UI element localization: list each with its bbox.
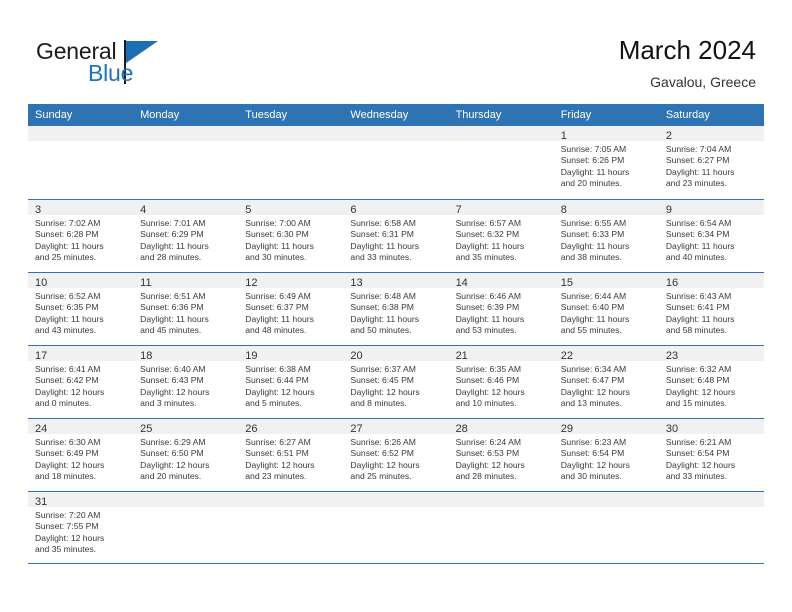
- sun-info-line: Daylight: 12 hours: [456, 387, 547, 398]
- calendar-week-row: 1Sunrise: 7:05 AMSunset: 6:26 PMDaylight…: [28, 126, 764, 199]
- sun-info-line: Sunset: 6:27 PM: [666, 155, 757, 166]
- day-number-strip: [28, 126, 133, 141]
- sun-info-line: Sunset: 6:53 PM: [456, 448, 547, 459]
- day-number-strip: [343, 126, 448, 141]
- day-number-strip: 25: [133, 419, 238, 434]
- calendar-day-cell-empty: [449, 126, 554, 199]
- sun-info-line: Sunset: 6:50 PM: [140, 448, 231, 459]
- day-number-strip: 17: [28, 346, 133, 361]
- sun-info-line: and 55 minutes.: [561, 325, 652, 336]
- day-sun-info: Sunrise: 6:23 AMSunset: 6:54 PMDaylight:…: [554, 434, 659, 483]
- sun-info-line: Daylight: 12 hours: [140, 387, 231, 398]
- sun-info-line: and 10 minutes.: [456, 398, 547, 409]
- day-sun-info: Sunrise: 6:54 AMSunset: 6:34 PMDaylight:…: [659, 215, 764, 264]
- sun-info-line: Sunset: 6:48 PM: [666, 375, 757, 386]
- day-number: 24: [35, 423, 47, 435]
- sun-info-line: Sunset: 6:41 PM: [666, 302, 757, 313]
- page-subtitle: Gavalou, Greece: [619, 72, 756, 92]
- day-number-strip: [343, 492, 448, 507]
- sun-info-line: Daylight: 12 hours: [140, 460, 231, 471]
- weekday-header-friday: Friday: [554, 104, 659, 126]
- weekday-header-sunday: Sunday: [28, 104, 133, 126]
- calendar-day-cell-13[interactable]: 13Sunrise: 6:48 AMSunset: 6:38 PMDayligh…: [343, 273, 448, 345]
- sun-info-line: and 50 minutes.: [350, 325, 441, 336]
- day-number-strip: 13: [343, 273, 448, 288]
- calendar-day-cell-empty: [449, 492, 554, 563]
- sun-info-line: Daylight: 11 hours: [35, 314, 126, 325]
- sun-info-line: Sunrise: 6:55 AM: [561, 218, 652, 229]
- day-number: 5: [245, 204, 251, 216]
- day-number-strip: 7: [449, 200, 554, 215]
- day-number-strip: 27: [343, 419, 448, 434]
- calendar-grid: SundayMondayTuesdayWednesdayThursdayFrid…: [28, 104, 764, 564]
- day-number: 17: [35, 350, 47, 362]
- day-number-strip: [554, 492, 659, 507]
- day-number: 26: [245, 423, 257, 435]
- sun-info-line: Sunrise: 7:05 AM: [561, 144, 652, 155]
- sun-info-line: Sunrise: 6:34 AM: [561, 364, 652, 375]
- sun-info-line: Sunrise: 6:38 AM: [245, 364, 336, 375]
- day-sun-info: [554, 507, 659, 510]
- sun-info-line: Sunrise: 6:27 AM: [245, 437, 336, 448]
- sun-info-line: Daylight: 12 hours: [666, 460, 757, 471]
- day-number: 16: [666, 277, 678, 289]
- sun-info-line: Sunset: 6:31 PM: [350, 229, 441, 240]
- sun-info-line: Sunset: 6:36 PM: [140, 302, 231, 313]
- sun-info-line: and 30 minutes.: [561, 471, 652, 482]
- day-sun-info: Sunrise: 6:35 AMSunset: 6:46 PMDaylight:…: [449, 361, 554, 410]
- weekday-header-tuesday: Tuesday: [238, 104, 343, 126]
- sun-info-line: Daylight: 11 hours: [561, 314, 652, 325]
- day-sun-info: Sunrise: 6:32 AMSunset: 6:48 PMDaylight:…: [659, 361, 764, 410]
- sun-info-line: and 20 minutes.: [140, 471, 231, 482]
- sun-info-line: Daylight: 12 hours: [350, 387, 441, 398]
- day-sun-info: [238, 507, 343, 510]
- day-sun-info: Sunrise: 6:24 AMSunset: 6:53 PMDaylight:…: [449, 434, 554, 483]
- day-sun-info: Sunrise: 6:38 AMSunset: 6:44 PMDaylight:…: [238, 361, 343, 410]
- day-number: 10: [35, 277, 47, 289]
- sun-info-line: and 28 minutes.: [456, 471, 547, 482]
- day-number: 21: [456, 350, 468, 362]
- day-number: 19: [245, 350, 257, 362]
- day-number-strip: 29: [554, 419, 659, 434]
- sun-info-line: Daylight: 12 hours: [666, 387, 757, 398]
- sun-info-line: Sunset: 6:37 PM: [245, 302, 336, 313]
- day-number: 9: [666, 204, 672, 216]
- sun-info-line: Sunset: 6:35 PM: [35, 302, 126, 313]
- day-sun-info: [449, 507, 554, 510]
- calendar-day-cell-19[interactable]: 19Sunrise: 6:38 AMSunset: 6:44 PMDayligh…: [238, 346, 343, 418]
- day-sun-info: Sunrise: 6:27 AMSunset: 6:51 PMDaylight:…: [238, 434, 343, 483]
- sun-info-line: Sunrise: 6:58 AM: [350, 218, 441, 229]
- calendar-day-cell-7[interactable]: 7Sunrise: 6:57 AMSunset: 6:32 PMDaylight…: [449, 200, 554, 272]
- sun-info-line: Sunrise: 6:49 AM: [245, 291, 336, 302]
- day-number: 15: [561, 277, 573, 289]
- day-sun-info: Sunrise: 6:30 AMSunset: 6:49 PMDaylight:…: [28, 434, 133, 483]
- day-sun-info: Sunrise: 6:43 AMSunset: 6:41 PMDaylight:…: [659, 288, 764, 337]
- sun-info-line: Daylight: 12 hours: [561, 460, 652, 471]
- sun-info-line: Daylight: 12 hours: [35, 460, 126, 471]
- sun-info-line: Sunset: 6:28 PM: [35, 229, 126, 240]
- day-number: 8: [561, 204, 567, 216]
- sun-info-line: Daylight: 12 hours: [561, 387, 652, 398]
- calendar-week-row: 31Sunrise: 7:20 AMSunset: 7:55 PMDayligh…: [28, 491, 764, 564]
- sun-info-line: Daylight: 11 hours: [140, 314, 231, 325]
- calendar-day-cell-10[interactable]: 10Sunrise: 6:52 AMSunset: 6:35 PMDayligh…: [28, 273, 133, 345]
- calendar-page: General Blue March 2024 Gavalou, Greece …: [0, 0, 792, 612]
- sun-info-line: Daylight: 12 hours: [35, 533, 126, 544]
- day-number: 4: [140, 204, 146, 216]
- day-number-strip: 30: [659, 419, 764, 434]
- sun-info-line: Sunrise: 6:30 AM: [35, 437, 126, 448]
- calendar-day-cell-16[interactable]: 16Sunrise: 6:43 AMSunset: 6:41 PMDayligh…: [659, 273, 764, 345]
- sun-info-line: Sunset: 6:54 PM: [561, 448, 652, 459]
- sun-info-line: Sunset: 6:42 PM: [35, 375, 126, 386]
- sun-info-line: and 25 minutes.: [350, 471, 441, 482]
- sun-info-line: Daylight: 11 hours: [666, 167, 757, 178]
- day-number-strip: 28: [449, 419, 554, 434]
- calendar-day-cell-5[interactable]: 5Sunrise: 7:00 AMSunset: 6:30 PMDaylight…: [238, 200, 343, 272]
- day-sun-info: Sunrise: 6:51 AMSunset: 6:36 PMDaylight:…: [133, 288, 238, 337]
- calendar-day-cell-empty: [133, 492, 238, 563]
- sun-info-line: Daylight: 11 hours: [666, 314, 757, 325]
- sun-info-line: Daylight: 11 hours: [561, 241, 652, 252]
- day-number-strip: 11: [133, 273, 238, 288]
- calendar-day-cell-empty: [659, 492, 764, 563]
- calendar-day-cell-26[interactable]: 26Sunrise: 6:27 AMSunset: 6:51 PMDayligh…: [238, 419, 343, 491]
- sun-info-line: and 5 minutes.: [245, 398, 336, 409]
- calendar-day-cell-empty: [343, 492, 448, 563]
- day-number-strip: 22: [554, 346, 659, 361]
- weekday-header-row: SundayMondayTuesdayWednesdayThursdayFrid…: [28, 104, 764, 126]
- day-sun-info: Sunrise: 6:52 AMSunset: 6:35 PMDaylight:…: [28, 288, 133, 337]
- calendar-day-cell-12[interactable]: 12Sunrise: 6:49 AMSunset: 6:37 PMDayligh…: [238, 273, 343, 345]
- day-number-strip: [449, 492, 554, 507]
- day-number-strip: 26: [238, 419, 343, 434]
- sun-info-line: Sunset: 6:26 PM: [561, 155, 652, 166]
- calendar-day-cell-21[interactable]: 21Sunrise: 6:35 AMSunset: 6:46 PMDayligh…: [449, 346, 554, 418]
- calendar-day-cell-empty: [554, 492, 659, 563]
- calendar-day-cell-22[interactable]: 22Sunrise: 6:34 AMSunset: 6:47 PMDayligh…: [554, 346, 659, 418]
- day-sun-info: Sunrise: 7:04 AMSunset: 6:27 PMDaylight:…: [659, 141, 764, 190]
- sun-info-line: and 35 minutes.: [35, 544, 126, 555]
- calendar-day-cell-8[interactable]: 8Sunrise: 6:55 AMSunset: 6:33 PMDaylight…: [554, 200, 659, 272]
- sun-info-line: Daylight: 12 hours: [35, 387, 126, 398]
- page-header: General Blue March 2024 Gavalou, Greece: [0, 0, 792, 104]
- sun-info-line: Sunrise: 6:29 AM: [140, 437, 231, 448]
- sun-info-line: Daylight: 11 hours: [350, 241, 441, 252]
- sun-info-line: Sunset: 6:30 PM: [245, 229, 336, 240]
- sun-info-line: Sunrise: 6:54 AM: [666, 218, 757, 229]
- day-number: 20: [350, 350, 362, 362]
- title-block: March 2024 Gavalou, Greece: [619, 34, 756, 92]
- sun-info-line: Sunrise: 7:00 AM: [245, 218, 336, 229]
- sun-info-line: Sunrise: 6:40 AM: [140, 364, 231, 375]
- sun-info-line: Daylight: 12 hours: [245, 387, 336, 398]
- sun-info-line: Sunrise: 6:23 AM: [561, 437, 652, 448]
- calendar-day-cell-1[interactable]: 1Sunrise: 7:05 AMSunset: 6:26 PMDaylight…: [554, 126, 659, 199]
- day-number-strip: 14: [449, 273, 554, 288]
- day-sun-info: Sunrise: 6:48 AMSunset: 6:38 PMDaylight:…: [343, 288, 448, 337]
- sun-info-line: Daylight: 11 hours: [245, 314, 336, 325]
- sun-info-line: Sunrise: 6:52 AM: [35, 291, 126, 302]
- sun-info-line: Sunrise: 6:51 AM: [140, 291, 231, 302]
- sun-info-line: Daylight: 11 hours: [561, 167, 652, 178]
- day-number-strip: 1: [554, 126, 659, 141]
- day-number-strip: 10: [28, 273, 133, 288]
- day-number-strip: [133, 492, 238, 507]
- calendar-day-cell-3[interactable]: 3Sunrise: 7:02 AMSunset: 6:28 PMDaylight…: [28, 200, 133, 272]
- sun-info-line: Sunset: 6:44 PM: [245, 375, 336, 386]
- calendar-day-cell-9[interactable]: 9Sunrise: 6:54 AMSunset: 6:34 PMDaylight…: [659, 200, 764, 272]
- day-number-strip: 31: [28, 492, 133, 507]
- sun-info-line: and 33 minutes.: [350, 252, 441, 263]
- day-number: 28: [456, 423, 468, 435]
- sun-info-line: Sunrise: 6:37 AM: [350, 364, 441, 375]
- calendar-day-cell-30[interactable]: 30Sunrise: 6:21 AMSunset: 6:54 PMDayligh…: [659, 419, 764, 491]
- sun-info-line: Daylight: 11 hours: [350, 314, 441, 325]
- calendar-week-row: 10Sunrise: 6:52 AMSunset: 6:35 PMDayligh…: [28, 272, 764, 345]
- sun-info-line: and 0 minutes.: [35, 398, 126, 409]
- sun-info-line: Sunset: 6:38 PM: [350, 302, 441, 313]
- day-sun-info: Sunrise: 7:02 AMSunset: 6:28 PMDaylight:…: [28, 215, 133, 264]
- day-sun-info: [343, 507, 448, 510]
- day-number: 6: [350, 204, 356, 216]
- day-number: 12: [245, 277, 257, 289]
- day-number: 18: [140, 350, 152, 362]
- day-sun-info: Sunrise: 7:00 AMSunset: 6:30 PMDaylight:…: [238, 215, 343, 264]
- sun-info-line: Sunrise: 6:24 AM: [456, 437, 547, 448]
- calendar-day-cell-empty: [238, 492, 343, 563]
- sun-info-line: Sunset: 6:47 PM: [561, 375, 652, 386]
- sun-info-line: Sunset: 6:46 PM: [456, 375, 547, 386]
- sun-info-line: Sunrise: 6:46 AM: [456, 291, 547, 302]
- day-number: 1: [561, 130, 567, 142]
- calendar-day-cell-27[interactable]: 27Sunrise: 6:26 AMSunset: 6:52 PMDayligh…: [343, 419, 448, 491]
- day-number: 23: [666, 350, 678, 362]
- day-sun-info: Sunrise: 6:44 AMSunset: 6:40 PMDaylight:…: [554, 288, 659, 337]
- day-number: 11: [140, 277, 151, 289]
- sun-info-line: and 33 minutes.: [666, 471, 757, 482]
- day-sun-info: [343, 141, 448, 144]
- sun-info-line: Sunset: 6:43 PM: [140, 375, 231, 386]
- day-number: 14: [456, 277, 468, 289]
- day-sun-info: Sunrise: 7:05 AMSunset: 6:26 PMDaylight:…: [554, 141, 659, 190]
- day-sun-info: Sunrise: 6:49 AMSunset: 6:37 PMDaylight:…: [238, 288, 343, 337]
- day-number: 31: [35, 496, 47, 508]
- day-sun-info: Sunrise: 6:34 AMSunset: 6:47 PMDaylight:…: [554, 361, 659, 410]
- sun-info-line: Sunset: 6:34 PM: [666, 229, 757, 240]
- sun-info-line: Daylight: 11 hours: [456, 241, 547, 252]
- sun-info-line: Sunrise: 7:01 AM: [140, 218, 231, 229]
- day-number-strip: 4: [133, 200, 238, 215]
- day-number-strip: 20: [343, 346, 448, 361]
- day-number-strip: [238, 126, 343, 141]
- calendar-day-cell-11[interactable]: 11Sunrise: 6:51 AMSunset: 6:36 PMDayligh…: [133, 273, 238, 345]
- day-number-strip: 24: [28, 419, 133, 434]
- day-sun-info: Sunrise: 7:20 AMSunset: 7:55 PMDaylight:…: [28, 507, 133, 556]
- sun-info-line: Sunrise: 6:21 AM: [666, 437, 757, 448]
- weekday-header-saturday: Saturday: [659, 104, 764, 126]
- sun-info-line: Sunset: 7:55 PM: [35, 521, 126, 532]
- calendar-day-cell-31[interactable]: 31Sunrise: 7:20 AMSunset: 7:55 PMDayligh…: [28, 492, 133, 563]
- day-number-strip: [238, 492, 343, 507]
- sun-info-line: Sunset: 6:32 PM: [456, 229, 547, 240]
- day-sun-info: Sunrise: 6:55 AMSunset: 6:33 PMDaylight:…: [554, 215, 659, 264]
- sun-info-line: Sunrise: 7:02 AM: [35, 218, 126, 229]
- day-sun-info: [238, 141, 343, 144]
- calendar-day-cell-15[interactable]: 15Sunrise: 6:44 AMSunset: 6:40 PMDayligh…: [554, 273, 659, 345]
- sun-info-line: Sunrise: 6:44 AM: [561, 291, 652, 302]
- calendar-day-cell-4[interactable]: 4Sunrise: 7:01 AMSunset: 6:29 PMDaylight…: [133, 200, 238, 272]
- day-number-strip: 18: [133, 346, 238, 361]
- day-number-strip: 8: [554, 200, 659, 215]
- sun-info-line: and 45 minutes.: [140, 325, 231, 336]
- sun-info-line: Sunset: 6:40 PM: [561, 302, 652, 313]
- sun-info-line: Sunset: 6:29 PM: [140, 229, 231, 240]
- sun-info-line: Sunrise: 6:43 AM: [666, 291, 757, 302]
- day-number-strip: [133, 126, 238, 141]
- day-sun-info: Sunrise: 6:37 AMSunset: 6:45 PMDaylight:…: [343, 361, 448, 410]
- sun-info-line: and 40 minutes.: [666, 252, 757, 263]
- day-sun-info: Sunrise: 6:58 AMSunset: 6:31 PMDaylight:…: [343, 215, 448, 264]
- sun-info-line: and 8 minutes.: [350, 398, 441, 409]
- sun-info-line: Daylight: 12 hours: [350, 460, 441, 471]
- page-title: March 2024: [619, 34, 756, 66]
- day-sun-info: [28, 141, 133, 144]
- day-sun-info: [449, 141, 554, 144]
- day-number-strip: 3: [28, 200, 133, 215]
- sun-info-line: Sunset: 6:45 PM: [350, 375, 441, 386]
- calendar-day-cell-25[interactable]: 25Sunrise: 6:29 AMSunset: 6:50 PMDayligh…: [133, 419, 238, 491]
- sun-info-line: and 15 minutes.: [666, 398, 757, 409]
- weekday-header-thursday: Thursday: [449, 104, 554, 126]
- day-number: 2: [666, 130, 672, 142]
- day-number-strip: 16: [659, 273, 764, 288]
- sun-info-line: and 30 minutes.: [245, 252, 336, 263]
- sun-info-line: Sunrise: 6:41 AM: [35, 364, 126, 375]
- day-sun-info: Sunrise: 6:41 AMSunset: 6:42 PMDaylight:…: [28, 361, 133, 410]
- day-number-strip: 12: [238, 273, 343, 288]
- day-number-strip: [659, 492, 764, 507]
- day-number-strip: 2: [659, 126, 764, 141]
- day-number: 22: [561, 350, 573, 362]
- sun-info-line: Daylight: 11 hours: [35, 241, 126, 252]
- sun-info-line: and 48 minutes.: [245, 325, 336, 336]
- calendar-day-cell-20[interactable]: 20Sunrise: 6:37 AMSunset: 6:45 PMDayligh…: [343, 346, 448, 418]
- sun-info-line: Daylight: 11 hours: [456, 314, 547, 325]
- calendar-day-cell-17[interactable]: 17Sunrise: 6:41 AMSunset: 6:42 PMDayligh…: [28, 346, 133, 418]
- sun-info-line: Sunrise: 6:26 AM: [350, 437, 441, 448]
- sun-info-line: Daylight: 12 hours: [456, 460, 547, 471]
- day-number-strip: 6: [343, 200, 448, 215]
- sun-info-line: Sunset: 6:52 PM: [350, 448, 441, 459]
- calendar-day-cell-2[interactable]: 2Sunrise: 7:04 AMSunset: 6:27 PMDaylight…: [659, 126, 764, 199]
- sun-info-line: and 23 minutes.: [666, 178, 757, 189]
- day-number: 25: [140, 423, 152, 435]
- day-sun-info: Sunrise: 7:01 AMSunset: 6:29 PMDaylight:…: [133, 215, 238, 264]
- day-number: 13: [350, 277, 362, 289]
- day-sun-info: Sunrise: 6:46 AMSunset: 6:39 PMDaylight:…: [449, 288, 554, 337]
- day-sun-info: [659, 507, 764, 510]
- day-number-strip: 15: [554, 273, 659, 288]
- sun-info-line: and 58 minutes.: [666, 325, 757, 336]
- sun-info-line: and 18 minutes.: [35, 471, 126, 482]
- calendar-day-cell-empty: [238, 126, 343, 199]
- calendar-day-cell-14[interactable]: 14Sunrise: 6:46 AMSunset: 6:39 PMDayligh…: [449, 273, 554, 345]
- general-blue-logo: General Blue: [36, 38, 266, 88]
- day-sun-info: [133, 507, 238, 510]
- sun-info-line: Sunrise: 6:48 AM: [350, 291, 441, 302]
- day-number-strip: [449, 126, 554, 141]
- sun-info-line: and 38 minutes.: [561, 252, 652, 263]
- sun-info-line: Daylight: 11 hours: [666, 241, 757, 252]
- calendar-day-cell-28[interactable]: 28Sunrise: 6:24 AMSunset: 6:53 PMDayligh…: [449, 419, 554, 491]
- day-number-strip: 23: [659, 346, 764, 361]
- sun-info-line: Sunset: 6:49 PM: [35, 448, 126, 459]
- day-number-strip: 9: [659, 200, 764, 215]
- sun-info-line: Sunrise: 6:32 AM: [666, 364, 757, 375]
- calendar-day-cell-18[interactable]: 18Sunrise: 6:40 AMSunset: 6:43 PMDayligh…: [133, 346, 238, 418]
- calendar-day-cell-empty: [133, 126, 238, 199]
- calendar-day-cell-23[interactable]: 23Sunrise: 6:32 AMSunset: 6:48 PMDayligh…: [659, 346, 764, 418]
- day-number: 29: [561, 423, 573, 435]
- sun-info-line: Sunrise: 7:04 AM: [666, 144, 757, 155]
- calendar-day-cell-empty: [343, 126, 448, 199]
- day-sun-info: Sunrise: 6:40 AMSunset: 6:43 PMDaylight:…: [133, 361, 238, 410]
- day-number-strip: 5: [238, 200, 343, 215]
- calendar-week-row: 3Sunrise: 7:02 AMSunset: 6:28 PMDaylight…: [28, 199, 764, 272]
- sun-info-line: Sunset: 6:51 PM: [245, 448, 336, 459]
- sun-info-line: Sunrise: 6:57 AM: [456, 218, 547, 229]
- calendar-weeks: 1Sunrise: 7:05 AMSunset: 6:26 PMDaylight…: [28, 126, 764, 564]
- sun-info-line: and 20 minutes.: [561, 178, 652, 189]
- day-number: 3: [35, 204, 41, 216]
- sun-info-line: and 35 minutes.: [456, 252, 547, 263]
- day-number-strip: 21: [449, 346, 554, 361]
- sun-info-line: and 28 minutes.: [140, 252, 231, 263]
- calendar-day-cell-24[interactable]: 24Sunrise: 6:30 AMSunset: 6:49 PMDayligh…: [28, 419, 133, 491]
- calendar-week-row: 24Sunrise: 6:30 AMSunset: 6:49 PMDayligh…: [28, 418, 764, 491]
- day-number: 30: [666, 423, 678, 435]
- sun-info-line: and 13 minutes.: [561, 398, 652, 409]
- calendar-week-row: 17Sunrise: 6:41 AMSunset: 6:42 PMDayligh…: [28, 345, 764, 418]
- sun-info-line: and 53 minutes.: [456, 325, 547, 336]
- logo-text-blue: Blue: [88, 60, 133, 86]
- calendar-day-cell-6[interactable]: 6Sunrise: 6:58 AMSunset: 6:31 PMDaylight…: [343, 200, 448, 272]
- weekday-header-monday: Monday: [133, 104, 238, 126]
- sun-info-line: Daylight: 11 hours: [140, 241, 231, 252]
- calendar-day-cell-29[interactable]: 29Sunrise: 6:23 AMSunset: 6:54 PMDayligh…: [554, 419, 659, 491]
- sun-info-line: Daylight: 12 hours: [245, 460, 336, 471]
- sun-info-line: Sunset: 6:39 PM: [456, 302, 547, 313]
- day-sun-info: Sunrise: 6:57 AMSunset: 6:32 PMDaylight:…: [449, 215, 554, 264]
- day-number: 27: [350, 423, 362, 435]
- day-number: 7: [456, 204, 462, 216]
- day-sun-info: Sunrise: 6:29 AMSunset: 6:50 PMDaylight:…: [133, 434, 238, 483]
- day-number-strip: 19: [238, 346, 343, 361]
- day-sun-info: Sunrise: 6:26 AMSunset: 6:52 PMDaylight:…: [343, 434, 448, 483]
- sun-info-line: Sunrise: 7:20 AM: [35, 510, 126, 521]
- day-sun-info: [133, 141, 238, 144]
- sun-info-line: Sunrise: 6:35 AM: [456, 364, 547, 375]
- sun-info-line: Sunset: 6:33 PM: [561, 229, 652, 240]
- sun-info-line: and 3 minutes.: [140, 398, 231, 409]
- sun-info-line: Sunset: 6:54 PM: [666, 448, 757, 459]
- weekday-header-wednesday: Wednesday: [343, 104, 448, 126]
- sun-info-line: and 43 minutes.: [35, 325, 126, 336]
- sun-info-line: Daylight: 11 hours: [245, 241, 336, 252]
